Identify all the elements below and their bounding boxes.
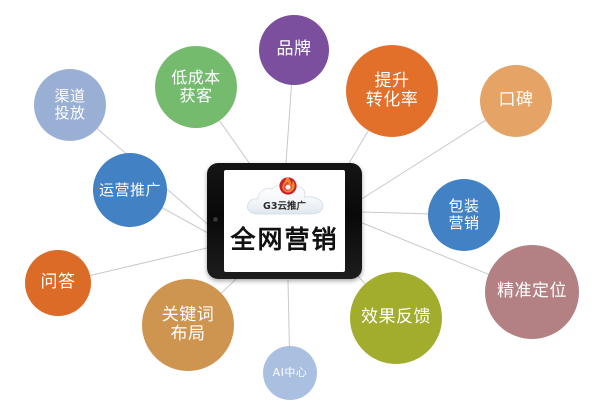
node-label-effect-feedback: 效果反馈 [359, 308, 433, 327]
connector-line-qa [90, 248, 207, 276]
connector-line-operation-promotion [162, 208, 208, 233]
node-label-boost-conversion: 提升 转化率 [364, 72, 421, 110]
connector-line-keyword-layout [221, 279, 236, 293]
tablet-device: G3云推广 全网营销 [207, 163, 362, 279]
node-channel-placement[interactable]: 渠道 投放 [34, 69, 106, 141]
node-packaging-marketing[interactable]: 包装 营销 [428, 179, 500, 251]
brand-logo-text: G3云推广 [244, 198, 326, 212]
node-label-word-of-mouth: 口碑 [497, 91, 536, 110]
node-low-cost-acquisition[interactable]: 低成本 获客 [155, 46, 237, 128]
node-brand[interactable]: 品牌 [259, 15, 329, 85]
node-keyword-layout[interactable]: 关键词 布局 [142, 279, 234, 371]
node-label-precise-positioning: 精准定位 [495, 282, 569, 301]
node-label-channel-placement: 渠道 投放 [52, 88, 87, 122]
connector-line-ai-center [288, 280, 289, 346]
node-label-keyword-layout: 关键词 布局 [160, 306, 217, 344]
flame-mark-icon [277, 174, 299, 196]
node-word-of-mouth[interactable]: 口碑 [480, 65, 552, 137]
node-boost-conversion[interactable]: 提升 转化率 [346, 45, 438, 137]
node-ai-center[interactable]: AI中心 [263, 346, 317, 400]
node-label-packaging-marketing: 包装 营销 [446, 198, 481, 232]
node-label-low-cost-acquisition: 低成本 获客 [169, 69, 223, 105]
node-label-brand: 品牌 [275, 40, 314, 59]
node-operation-promotion[interactable]: 运营推广 [93, 153, 167, 227]
infographic-canvas: 渠道 投放低成本 获客品牌提升 转化率口碑运营推广包装 营销精准定位问答关键词 … [0, 0, 600, 410]
page-title: 全网营销 [230, 220, 338, 256]
tablet-screen: G3云推广 全网营销 [224, 170, 345, 272]
node-label-ai-center: AI中心 [271, 367, 310, 379]
node-effect-feedback[interactable]: 效果反馈 [350, 272, 442, 364]
node-label-qa: 问答 [39, 273, 78, 292]
connector-line-low-cost-acquisition [220, 121, 253, 167]
node-label-operation-promotion: 运营推广 [97, 182, 163, 199]
node-qa[interactable]: 问答 [25, 250, 91, 316]
connector-line-brand [286, 85, 292, 163]
tablet-camera-icon [213, 217, 218, 222]
node-precise-positioning[interactable]: 精准定位 [485, 245, 579, 339]
brand-logo: G3云推广 [244, 174, 326, 218]
connector-line-effect-feedback [357, 275, 365, 284]
connector-line-packaging-marketing [362, 212, 428, 214]
